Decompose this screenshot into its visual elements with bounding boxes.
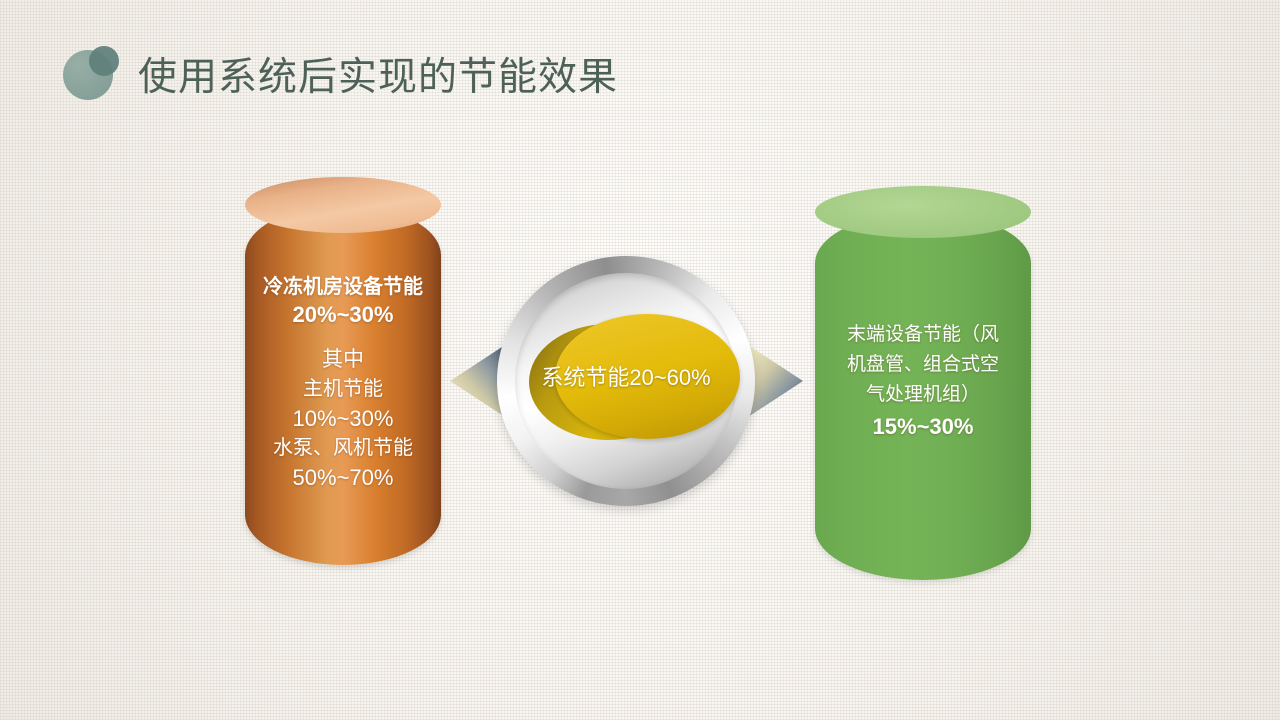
left-line-5: 10%~30% [245,404,441,434]
logo-circle-small-icon [89,46,119,76]
left-line-4: 主机节能 [245,375,441,404]
left-cylinder-text: 冷冻机房设备节能 20%~30% 其中 主机节能 10%~30% 水泵、风机节能… [245,273,441,493]
left-line-6: 水泵、风机节能 [245,434,441,463]
left-line-1: 冷冻机房设备节能 [245,273,441,301]
right-line-2: 机盘管、组合式空 [815,350,1031,380]
left-text-gap [245,329,441,345]
left-line-2: 20%~30% [245,301,441,329]
right-cylinder[interactable]: 末端设备节能（风 机盘管、组合式空 气处理机组） 15%~30% [815,212,1031,580]
right-line-3: 气处理机组） [815,380,1031,410]
page-title: 使用系统后实现的节能效果 [138,52,618,104]
right-line-1: 末端设备节能（风 [815,320,1031,350]
right-line-4: 15%~30% [815,410,1031,444]
left-cylinder[interactable]: 冷冻机房设备节能 20%~30% 其中 主机节能 10%~30% 水泵、风机节能… [245,205,441,565]
right-cylinder-text: 末端设备节能（风 机盘管、组合式空 气处理机组） 15%~30% [815,320,1031,444]
right-cylinder-top-ellipse [815,186,1031,238]
left-line-3: 其中 [245,345,441,375]
flow-arrow-right-icon [748,343,804,419]
medallion-label: 系统节能20~60% [497,364,755,392]
left-cylinder-top-ellipse [245,177,441,233]
left-line-7: 50%~70% [245,463,441,493]
page-header: 使用系统后实现的节能效果 [0,0,1280,140]
logo-mark [63,46,121,104]
center-medallion[interactable]: 系统节能20~60% [497,256,755,506]
